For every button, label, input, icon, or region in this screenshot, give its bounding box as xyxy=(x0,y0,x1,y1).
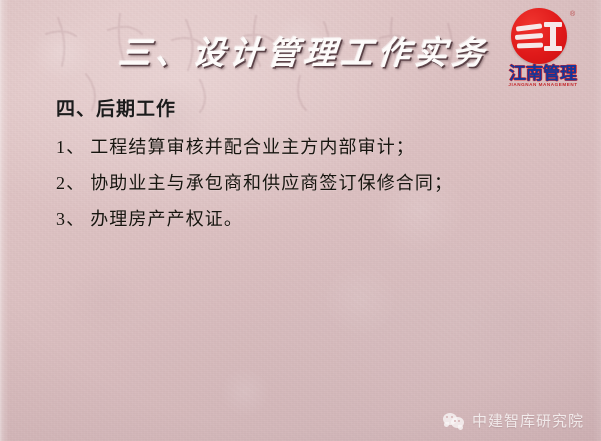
wechat-icon xyxy=(443,412,465,430)
list-item: 3、办理房产产权证。 xyxy=(56,210,556,228)
list-item: 1、工程结算审核并配合业主方内部审计； xyxy=(56,138,556,156)
list-item-text: 工程结算审核并配合业主方内部审计； xyxy=(90,137,415,157)
list-item-text: 协助业主与承包商和供应商签订保修合同； xyxy=(90,173,453,193)
presentation-slide: 三、设计管理工作实务 ® 江南管理 JIANGNAN MANAGEMENT 四、… xyxy=(0,0,601,441)
wechat-watermark: 中建智库研究院 xyxy=(443,412,584,430)
logo-circle-mark xyxy=(511,8,567,64)
list-item-text: 办理房产产权证。 xyxy=(90,209,243,229)
logo-company-name-cn: 江南管理 xyxy=(500,65,586,82)
list-item-number: 1、 xyxy=(56,137,85,157)
section-heading: 四、后期工作 xyxy=(56,100,556,119)
list-item-number: 2、 xyxy=(56,173,85,193)
company-logo: ® 江南管理 JIANGNAN MANAGEMENT xyxy=(500,8,586,94)
registered-trademark-icon: ® xyxy=(570,11,575,18)
list-item-number: 3、 xyxy=(56,209,85,229)
list-item: 2、协助业主与承包商和供应商签订保修合同； xyxy=(56,174,556,192)
slide-content: 四、后期工作 1、工程结算审核并配合业主方内部审计； 2、协助业主与承包商和供应… xyxy=(56,100,556,228)
logo-company-name-en: JIANGNAN MANAGEMENT xyxy=(500,83,586,88)
slide-title: 三、设计管理工作实务 xyxy=(116,25,493,77)
bullet-list: 1、工程结算审核并配合业主方内部审计； 2、协助业主与承包商和供应商签订保修合同… xyxy=(56,138,556,228)
watermark-text: 中建智库研究院 xyxy=(472,414,584,429)
